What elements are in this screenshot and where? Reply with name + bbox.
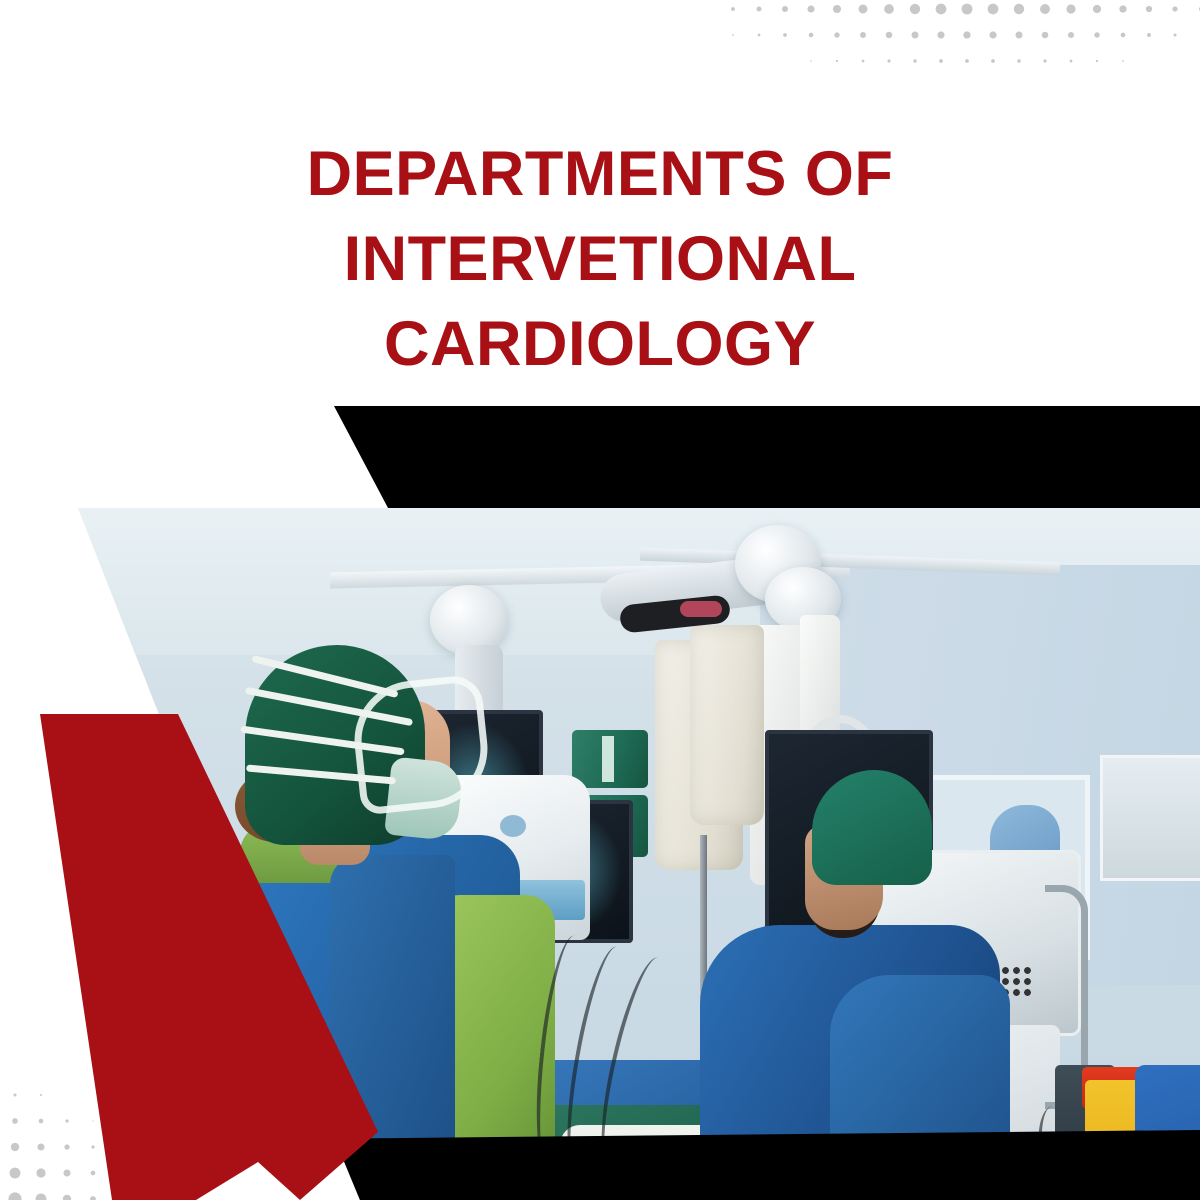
red-chevron-accent: [0, 700, 420, 1200]
wall-shelf: [1100, 755, 1200, 881]
title-line-1: DEPARTMENTS OF: [155, 132, 1045, 217]
poster-canvas: DEPARTMENTS OF INTERVETIONAL CARDIOLOGY: [0, 0, 1200, 1200]
top-right-halftone-dots: [720, 0, 1200, 140]
black-accent-band: [0, 400, 1200, 512]
page-title: DEPARTMENTS OF INTERVETIONAL CARDIOLOGY: [155, 132, 1045, 387]
green-drape-upper: [572, 730, 648, 788]
c-arm-indicator: [500, 815, 526, 837]
iv-hanger-marker: [680, 601, 722, 617]
staff-right-surgical-cap: [812, 770, 932, 885]
title-line-3: CARDIOLOGY: [155, 302, 1045, 387]
title-line-2: INTERVETIONAL: [155, 217, 1045, 302]
iv-bag-b: [690, 625, 764, 825]
